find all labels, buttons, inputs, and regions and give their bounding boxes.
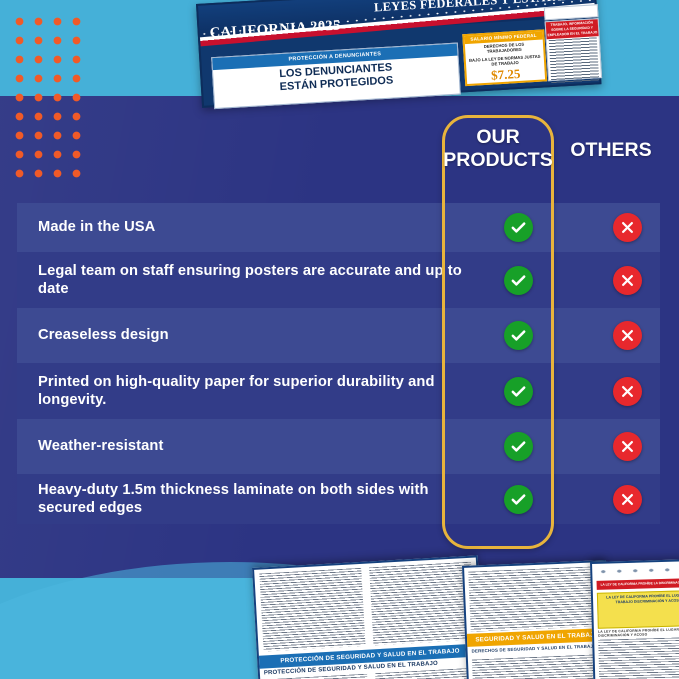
cross-circle-icon bbox=[613, 321, 642, 350]
agency-logos-icon bbox=[595, 564, 679, 577]
table-row: Heavy-duty 1.5m thickness laminate on bo… bbox=[17, 474, 660, 524]
poster-top-red-box: TRABAJO, INFORMACIÓN SOBRE LA SEGURIDAD … bbox=[545, 18, 602, 81]
poster-bottom-3-yellow-box: LA LEY DE CALIFORNIA PROHÍBE EL LUGAR DE… bbox=[597, 590, 679, 629]
ours-cell bbox=[463, 213, 574, 242]
ours-cell bbox=[463, 266, 574, 295]
poster-bottom-3: LA LEY DE CALIFORNIA PROHÍBE LA DISCRIMI… bbox=[590, 559, 679, 679]
red-box-title: TRABAJO, INFORMACIÓN SOBRE LA SEGURIDAD … bbox=[546, 19, 599, 39]
poster-bottom-3-red-banner: LA LEY DE CALIFORNIA PROHÍBE LA DISCRIMI… bbox=[597, 578, 679, 590]
poster-top-wage-box: SALARIO MÍNIMO FEDERAL DERECHOS DE LOS T… bbox=[462, 29, 547, 86]
poster-bottom-1: PROTECCIÓN DE SEGURIDAD Y SALUD EN EL TR… bbox=[252, 555, 485, 679]
others-cell bbox=[574, 377, 679, 406]
feature-label: Weather-resistant bbox=[17, 437, 463, 456]
others-cell bbox=[574, 266, 679, 295]
comparison-table: Made in the USA Legal team on staff ensu… bbox=[17, 203, 660, 524]
cross-circle-icon bbox=[613, 377, 642, 406]
our-products-line1: OUR bbox=[442, 126, 554, 149]
table-row: Legal team on staff ensuring posters are… bbox=[17, 252, 660, 308]
feature-label: Made in the USA bbox=[17, 218, 463, 237]
poster-bottom-3-yellow-title: LA LEY DE CALIFORNIA PROHÍBE EL LUGAR DE… bbox=[598, 591, 679, 606]
table-row: Printed on high-quality paper for superi… bbox=[17, 363, 660, 419]
check-circle-icon bbox=[504, 485, 533, 514]
table-row: Made in the USA bbox=[17, 203, 660, 252]
ours-cell bbox=[463, 485, 574, 514]
others-cell bbox=[574, 485, 679, 514]
others-cell bbox=[574, 321, 679, 350]
feature-label: Legal team on staff ensuring posters are… bbox=[17, 262, 463, 299]
cross-circle-icon bbox=[613, 432, 642, 461]
column-header-others: OTHERS bbox=[554, 139, 668, 162]
check-circle-icon bbox=[504, 266, 533, 295]
cross-circle-icon bbox=[613, 266, 642, 295]
others-cell bbox=[574, 213, 679, 242]
others-cell bbox=[574, 432, 679, 461]
check-circle-icon bbox=[504, 377, 533, 406]
ours-cell bbox=[463, 377, 574, 406]
table-row: Weather-resistant bbox=[17, 419, 660, 474]
check-circle-icon bbox=[504, 213, 533, 242]
our-products-line2: PRODUCTS bbox=[442, 149, 554, 172]
cross-circle-icon bbox=[613, 485, 642, 514]
feature-label: Printed on high-quality paper for superi… bbox=[17, 373, 463, 410]
poster-bottom-2: SEGURIDAD Y SALUD EN EL TRABAJO DERECHOS… bbox=[462, 560, 611, 679]
orange-dot-grid-icon bbox=[8, 10, 88, 186]
ours-cell bbox=[463, 321, 574, 350]
comparison-infographic: CALIFORNIA 2025 LEYES FEDERALES Y ESTATA… bbox=[0, 0, 679, 679]
ours-cell bbox=[463, 432, 574, 461]
check-circle-icon bbox=[504, 432, 533, 461]
feature-label: Heavy-duty 1.5m thickness laminate on bo… bbox=[17, 481, 463, 518]
check-circle-icon bbox=[504, 321, 533, 350]
cross-circle-icon bbox=[613, 213, 642, 242]
feature-label: Creaseless design bbox=[17, 326, 463, 345]
table-row: Creaseless design bbox=[17, 308, 660, 363]
column-header-our-products: OUR PRODUCTS bbox=[442, 126, 554, 172]
